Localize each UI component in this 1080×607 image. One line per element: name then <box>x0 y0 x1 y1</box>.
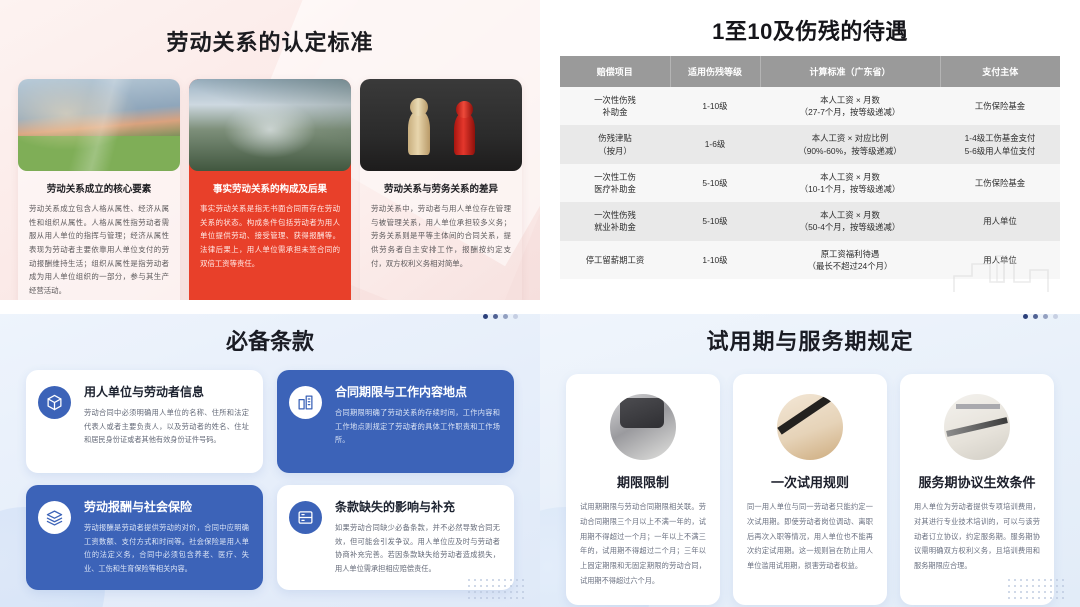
two-chess-pawns-photo <box>360 79 522 171</box>
cell-std-2: （27-7个月，按等级递减） <box>763 106 937 118</box>
panel-probation-service-period: 试用期与服务期规定 期限限制 试用期期限与劳动合同期限相关联。劳动合同期限三个月… <box>540 300 1080 607</box>
cell-payer: 工伤保险基金 <box>943 100 1057 112</box>
panel-mandatory-clauses: 必备条款 用人单位与劳动者信息 劳动合同中必须明确用人单位的名称、住所和法定代表… <box>0 300 540 607</box>
cell-item-2: 医疗补助金 <box>563 183 667 195</box>
col-header-standard: 计算标准（广东省） <box>760 56 940 87</box>
cell-item-2: 补助金 <box>563 106 667 118</box>
cell-std-1: 本人工资 × 对应比例 <box>763 132 937 144</box>
clause-card-3-title: 劳动报酬与社会保险 <box>84 498 249 515</box>
probation-card-2-title: 一次试用规则 <box>747 472 873 491</box>
probation-card-3-text: 用人单位为劳动者提供专项培训费用，对其进行专业技术培训的，可以与该劳动者订立协议… <box>914 500 1040 574</box>
clause-card-3[interactable]: 劳动报酬与社会保险 劳动报酬是劳动者提供劳动的对价，合同中应明确工资数额、支付方… <box>26 485 263 590</box>
panel-disability-benefits: 1至10及伤残的待遇 赔偿项目 适用伤残等级 计算标准（广东省） 支付主体 一次… <box>540 0 1080 300</box>
dot-grid-decor <box>466 577 524 599</box>
building-icon <box>289 386 322 419</box>
probation-card-2-text: 同一用人单位与同一劳动者只能约定一次试用期。即使劳动者岗位调动、离职后再次入职等… <box>747 500 873 574</box>
page-title-top-left: 劳动关系的认定标准 <box>0 0 540 57</box>
cell-payer-2: 5-6级用人单位支付 <box>943 145 1057 157</box>
probation-card-3[interactable]: 服务期协议生效条件 用人单位为劳动者提供专项培训费用，对其进行专业技术培训的，可… <box>900 374 1054 605</box>
criteria-card-2-title: 事实劳动关系的构成及后果 <box>200 181 340 195</box>
slide-deck-grid: 劳动关系的认定标准 劳动关系成立的核心要素 劳动关系成立包含人格从属性、经济从属… <box>0 0 1080 607</box>
cell-payer: 1-4级工伤基金支付 <box>943 132 1057 144</box>
criteria-card-3[interactable]: 劳动关系与劳务关系的差异 劳动关系中，劳动者与用人单位存在管理与被管理关系，用人… <box>360 79 522 300</box>
panel-labor-relation-criteria: 劳动关系的认定标准 劳动关系成立的核心要素 劳动关系成立包含人格从属性、经济从属… <box>0 0 540 300</box>
table-row: 一次性伤残就业补助金 5-10级 本人工资 × 月数（50-4个月，按等级递减）… <box>560 202 1060 240</box>
clause-card-2[interactable]: 合同期限与工作内容地点 合同期限明确了劳动关系的存续时间，工作内容和工作地点则规… <box>277 370 514 473</box>
wooden-pawn-icon <box>408 111 430 155</box>
cell-item: 一次性工伤 <box>563 171 667 183</box>
criteria-card-2[interactable]: 事实劳动关系的构成及后果 事实劳动关系是指无书面合同而存在劳动关系的状态。构成条… <box>189 79 351 300</box>
clause-card-4-text: 如果劳动合同缺少必备条款，并不必然导致合同无效，但可能会引发争议。用人单位应及时… <box>335 521 500 576</box>
probation-card-1[interactable]: 期限限制 试用期期限与劳动合同期限相关联。劳动合同期限三个月以上不满一年的，试用… <box>566 374 720 605</box>
probation-card-1-text: 试用期期限与劳动合同期限相关联。劳动合同期限三个月以上不满一年的，试用期不得超过… <box>580 500 706 589</box>
geometric-decor-icon <box>952 252 1062 294</box>
criteria-card-1-title: 劳动关系成立的核心要素 <box>29 181 169 195</box>
col-header-level: 适用伤残等级 <box>670 56 760 87</box>
cell-item: 伤残津贴 <box>563 132 667 144</box>
probation-card-list: 期限限制 试用期期限与劳动合同期限相关联。劳动合同期限三个月以上不满一年的，试用… <box>540 356 1080 605</box>
layers-icon <box>38 501 71 534</box>
clause-card-4[interactable]: 条款缺失的影响与补充 如果劳动合同缺少必备条款，并不必然导致合同无效，但可能会引… <box>277 485 514 590</box>
cell-item-2: （按月） <box>563 145 667 157</box>
clause-card-2-title: 合同期限与工作内容地点 <box>335 383 500 400</box>
cell-std-2: （10-1个月，按等级递减） <box>763 183 937 195</box>
cell-payer: 工伤保险基金 <box>943 177 1057 189</box>
table-header-row: 赔偿项目 适用伤残等级 计算标准（广东省） 支付主体 <box>560 56 1060 87</box>
pen-on-paper-photo <box>777 394 843 460</box>
clause-card-1-title: 用人单位与劳动者信息 <box>84 383 249 400</box>
river-valley-photo <box>189 79 351 171</box>
clause-card-grid: 用人单位与劳动者信息 劳动合同中必须明确用人单位的名称、住所和法定代表人或者主要… <box>0 356 540 590</box>
cell-level: 5-10级 <box>670 202 760 240</box>
clause-card-1[interactable]: 用人单位与劳动者信息 劳动合同中必须明确用人单位的名称、住所和法定代表人或者主要… <box>26 370 263 473</box>
cell-std-2: （50-4个月，按等级递减） <box>763 221 937 233</box>
cube-icon <box>38 386 71 419</box>
criteria-card-3-title: 劳动关系与劳务关系的差异 <box>371 181 511 195</box>
stopwatch-photo <box>610 394 676 460</box>
probation-card-1-title: 期限限制 <box>580 472 706 491</box>
cell-std-1: 本人工资 × 月数 <box>763 209 937 221</box>
cell-std-2: （最长不超过24个月） <box>763 260 937 272</box>
cell-item-2: 就业补助金 <box>563 221 667 233</box>
cell-level: 1-10级 <box>670 241 760 279</box>
clause-card-4-title: 条款缺失的影响与补充 <box>335 498 500 515</box>
probation-card-2[interactable]: 一次试用规则 同一用人单位与同一劳动者只能约定一次试用期。即使劳动者岗位调动、离… <box>733 374 887 605</box>
cell-std-2: （90%-60%，按等级递减） <box>763 145 937 157</box>
page-title-bottom-left: 必备条款 <box>0 300 540 356</box>
table-row: 一次性工伤医疗补助金 5-10级 本人工资 × 月数（10-1个月，按等级递减）… <box>560 164 1060 202</box>
criteria-card-2-text: 事实劳动关系是指无书面合同而存在劳动关系的状态。构成条件包括劳动者为用人单位提供… <box>200 202 340 270</box>
cell-item: 一次性伤残 <box>563 209 667 221</box>
clause-card-2-text: 合同期限明确了劳动关系的存续时间，工作内容和工作地点则规定了劳动者的具体工作职责… <box>335 406 500 447</box>
clause-card-1-text: 劳动合同中必须明确用人单位的名称、住所和法定代表人或者主要负责人，以及劳动者的姓… <box>84 406 249 447</box>
cell-item: 一次性伤残 <box>563 94 667 106</box>
col-header-payer: 支付主体 <box>940 56 1060 87</box>
benefits-table: 赔偿项目 适用伤残等级 计算标准（广东省） 支付主体 一次性伤残补助金 1-10… <box>560 56 1060 279</box>
mountain-meadow-photo <box>18 79 180 171</box>
cell-payer: 用人单位 <box>943 215 1057 227</box>
cell-level: 1-6级 <box>670 125 760 163</box>
table-row: 伤残津贴（按月） 1-6级 本人工资 × 对应比例（90%-60%，按等级递减）… <box>560 125 1060 163</box>
cell-std-1: 原工资福利待遇 <box>763 248 937 260</box>
cell-std-1: 本人工资 × 月数 <box>763 94 937 106</box>
criteria-card-1[interactable]: 劳动关系成立的核心要素 劳动关系成立包含人格从属性、经济从属性和组织从属性。人格… <box>18 79 180 300</box>
criteria-card-3-text: 劳动关系中，劳动者与用人单位存在管理与被管理关系，用人单位承担较多义务；劳务关系… <box>371 202 511 270</box>
cell-item: 停工留薪期工资 <box>563 254 667 266</box>
clause-card-3-text: 劳动报酬是劳动者提供劳动的对价，合同中应明确工资数额、支付方式和时间等。社会保险… <box>84 521 249 576</box>
page-title-top-right: 1至10及伤残的待遇 <box>540 0 1080 46</box>
probation-card-3-title: 服务期协议生效条件 <box>914 472 1040 491</box>
page-title-bottom-right: 试用期与服务期规定 <box>540 300 1080 356</box>
cell-level: 1-10级 <box>670 87 760 125</box>
list-panel-icon <box>289 501 322 534</box>
pen-on-document-photo <box>944 394 1010 460</box>
dot-grid-decor <box>1006 577 1064 599</box>
criteria-card-1-text: 劳动关系成立包含人格从属性、经济从属性和组织从属性。人格从属性指劳动者需服从用人… <box>29 202 169 298</box>
benefits-table-wrap: 赔偿项目 适用伤残等级 计算标准（广东省） 支付主体 一次性伤残补助金 1-10… <box>540 46 1080 279</box>
col-header-item: 赔偿项目 <box>560 56 670 87</box>
table-row: 一次性伤残补助金 1-10级 本人工资 × 月数（27-7个月，按等级递减） 工… <box>560 87 1060 125</box>
criteria-card-list: 劳动关系成立的核心要素 劳动关系成立包含人格从属性、经济从属性和组织从属性。人格… <box>0 57 540 300</box>
cell-level: 5-10级 <box>670 164 760 202</box>
red-pawn-icon <box>454 113 475 155</box>
cell-std-1: 本人工资 × 月数 <box>763 171 937 183</box>
